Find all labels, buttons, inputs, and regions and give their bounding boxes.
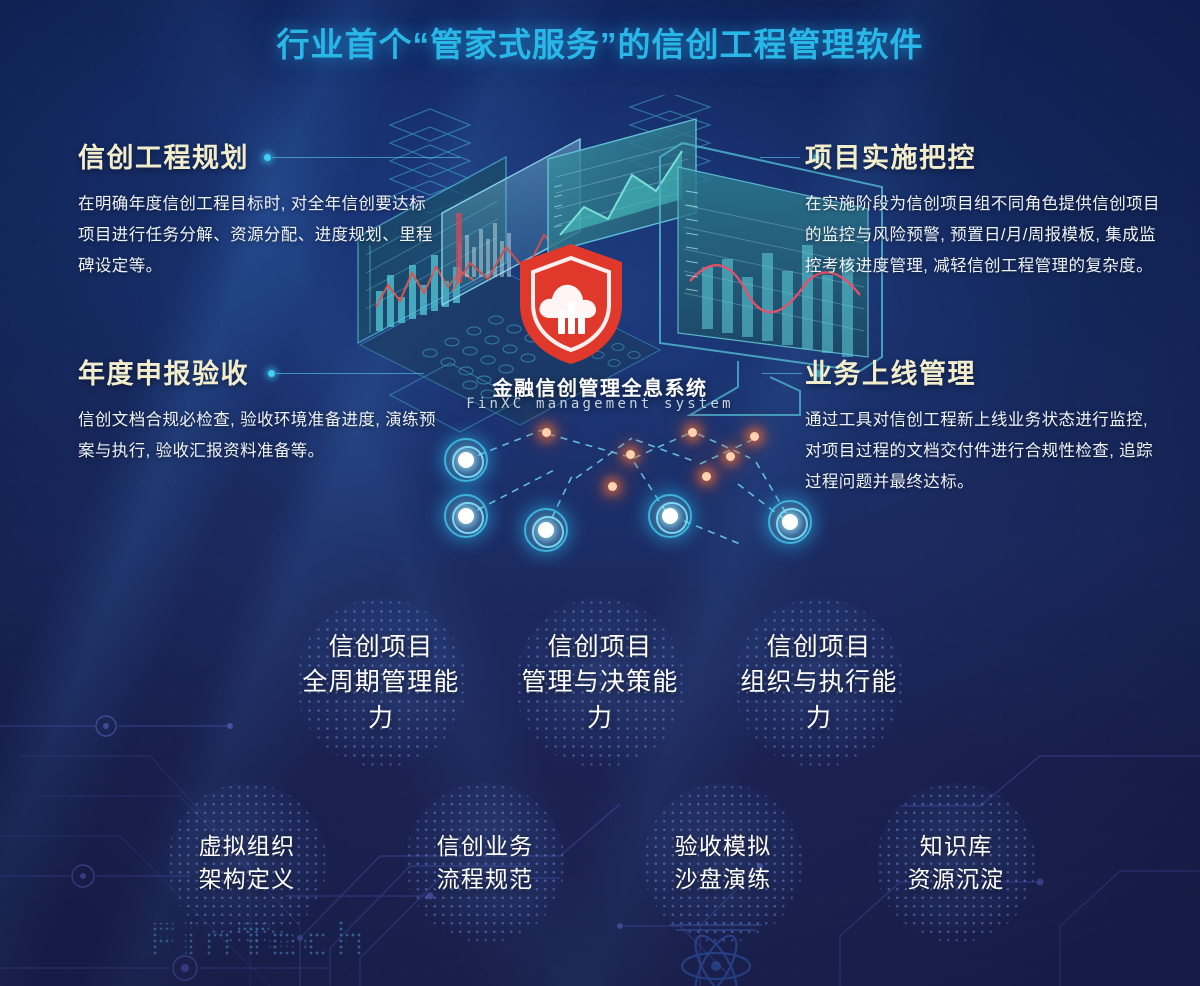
sphere-line-1: 信创项目 (329, 630, 434, 666)
capability-sphere-label: 信创项目 组织与执行能力 (734, 598, 904, 768)
network-node (444, 494, 488, 538)
sphere-line-2: 流程规范 (437, 863, 534, 896)
network-spark (702, 472, 711, 481)
network-spark (750, 432, 759, 441)
sphere-line-1: 知识库 (920, 830, 993, 863)
feature-sphere-2: 验收模拟 沙盘演练 (643, 783, 803, 943)
sphere-line-2: 管理与决策能力 (515, 665, 685, 736)
text-block-business-launch: 业务上线管理 通过工具对信创工程新上线业务状态进行监控, 对项目过程的文档交付件… (805, 352, 1163, 498)
capability-sphere-label: 信创项目 管理与决策能力 (515, 598, 685, 768)
sphere-line-2: 架构定义 (199, 863, 296, 896)
sphere-line-1: 信创业务 (437, 830, 534, 863)
network-node (524, 508, 568, 552)
heading-planning: 信创工程规划 (78, 136, 249, 175)
body-annual-acceptance: 信创文档合规必检查, 验收环境准备进度, 演练预案与执行, 验收汇报资料准备等。 (78, 405, 436, 467)
feature-sphere-label: 知识库 资源沉淀 (876, 783, 1036, 943)
heading-business-launch: 业务上线管理 (805, 352, 976, 391)
sphere-line-1: 信创项目 (767, 630, 872, 666)
system-name-en: FinXC management system (400, 396, 800, 412)
network-spark (608, 482, 617, 491)
network-spark (688, 428, 697, 437)
text-block-planning: 信创工程规划 在明确年度信创工程目标时, 对全年信创要达标项目进行任务分解、资源… (78, 136, 436, 282)
node-network-decoration (420, 420, 840, 560)
capability-sphere-1: 信创项目 管理与决策能力 (515, 598, 685, 768)
sphere-line-2: 资源沉淀 (908, 863, 1005, 896)
sphere-line-2: 组织与执行能力 (734, 665, 904, 736)
feature-sphere-label: 虚拟组织 架构定义 (167, 783, 327, 943)
infographic-canvas: FinTech 行业首个“管家式服务”的信创工程管理软件 (0, 0, 1200, 986)
body-implementation: 在实施阶段为信创项目组不同角色提供信创项目的监控与风险预警, 预置日/月/周报模… (805, 189, 1163, 282)
feature-sphere-0: 虚拟组织 架构定义 (167, 783, 327, 943)
body-business-launch: 通过工具对信创工程新上线业务状态进行监控, 对项目过程的文档交付件进行合规性检查… (805, 405, 1163, 498)
feature-sphere-3: 知识库 资源沉淀 (876, 783, 1036, 943)
sphere-line-1: 信创项目 (548, 630, 653, 666)
network-node (648, 494, 692, 538)
sphere-line-1: 验收模拟 (675, 830, 772, 863)
sphere-line-2: 沙盘演练 (675, 863, 772, 896)
capability-sphere-0: 信创项目 全周期管理能力 (296, 598, 466, 768)
network-spark (542, 428, 551, 437)
sphere-line-2: 全周期管理能力 (296, 665, 466, 736)
network-node (444, 438, 488, 482)
feature-sphere-label: 验收模拟 沙盘演练 (643, 783, 803, 943)
heading-implementation: 项目实施把控 (805, 136, 976, 175)
text-block-annual-acceptance: 年度申报验收 信创文档合规必检查, 验收环境准备进度, 演练预案与执行, 验收汇… (78, 352, 436, 467)
text-block-implementation: 项目实施把控 在实施阶段为信创项目组不同角色提供信创项目的监控与风险预警, 预置… (805, 136, 1163, 282)
capability-sphere-label: 信创项目 全周期管理能力 (296, 598, 466, 768)
network-spark (626, 450, 635, 459)
page-title: 行业首个“管家式服务”的信创工程管理软件 (0, 18, 1200, 66)
network-spark (726, 452, 735, 461)
heading-annual-acceptance: 年度申报验收 (78, 352, 249, 391)
sphere-line-1: 虚拟组织 (199, 830, 296, 863)
feature-sphere-1: 信创业务 流程规范 (405, 783, 565, 943)
feature-sphere-label: 信创业务 流程规范 (405, 783, 565, 943)
shield-cloud-chart-icon (512, 240, 630, 368)
capability-sphere-2: 信创项目 组织与执行能力 (734, 598, 904, 768)
body-planning: 在明确年度信创工程目标时, 对全年信创要达标项目进行任务分解、资源分配、进度规划… (78, 189, 436, 282)
network-node (768, 500, 812, 544)
